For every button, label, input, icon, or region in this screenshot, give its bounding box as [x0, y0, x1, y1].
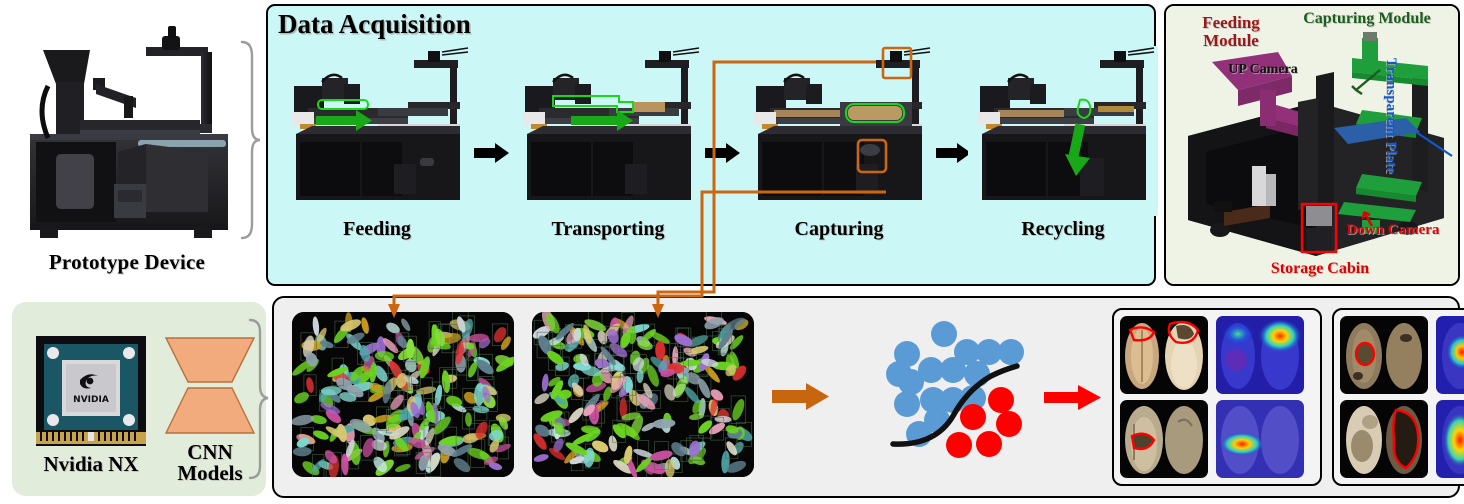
stage-transporting: Transporting [513, 46, 703, 246]
data-acquisition-title: Data Acquisition [278, 9, 471, 40]
nvidia-nx-chip-photo: NVIDIA [36, 336, 146, 446]
svg-text:NVIDIA: NVIDIA [73, 395, 109, 405]
orange-arrow-icon [772, 380, 830, 417]
brace-top-left [238, 40, 262, 245]
cam-right-row2-rgb [1340, 400, 1428, 478]
cnn-models-label-line1: CNN [160, 442, 260, 463]
cad-label-up-camera: UP Camera [1204, 62, 1322, 78]
stage-transporting-photo [513, 46, 703, 216]
stage-capturing-label: Capturing [736, 218, 942, 241]
prototype-device-photo [18, 12, 236, 250]
prototype-device-block: Prototype Device [18, 12, 236, 290]
cam-left-row1-rgb [1120, 316, 1208, 394]
brace-bottom-left [246, 318, 270, 485]
stage-feeding-label: Feeding [274, 218, 480, 241]
cad-module-panel: Feeding Module Capturing Module UP Camer… [1164, 4, 1460, 286]
cam-group-right [1332, 308, 1464, 486]
figure-root: Prototype Device Data Acquisition [0, 0, 1464, 504]
cam-left-row2-heatmap [1216, 400, 1304, 478]
cam-left-row2-rgb [1120, 400, 1208, 478]
stage-capturing: Capturing [744, 46, 934, 246]
stage-recycling-label: Recycling [960, 218, 1166, 241]
cad-label-feeding-module: Feeding Module [1176, 14, 1286, 50]
red-arrow-icon [1044, 382, 1102, 417]
stage-recycling-photo [968, 46, 1158, 216]
cam-right-row1-rgb [1340, 316, 1428, 394]
cnn-models-label: CNN Models [160, 442, 260, 485]
cam-left-row1-heatmap [1216, 316, 1304, 394]
cad-label-capturing-module: Capturing Module [1278, 10, 1456, 28]
stage-recycling: Recycling [968, 46, 1158, 246]
step-arrow-2 [705, 142, 741, 164]
cnn-model-shape [162, 334, 258, 443]
cnn-models-label-line2: Models [160, 463, 260, 484]
data-acquisition-panel: Data Acquisition [266, 4, 1156, 286]
nvidia-nx-label: Nvidia NX [18, 452, 164, 477]
segmented-grains-down-view [532, 312, 754, 477]
cad-label-storage-cabin: Storage Cabin [1240, 260, 1400, 278]
segmented-grains-up-view [292, 312, 514, 477]
cad-label-down-camera: Down Camera [1338, 222, 1448, 239]
step-arrow-3 [936, 142, 972, 164]
stage-capturing-photo [744, 46, 934, 216]
stage-feeding-photo [282, 46, 472, 216]
cam-right-row1-heatmap [1436, 316, 1464, 394]
step-arrow-1 [474, 142, 510, 164]
stage-transporting-label: Transporting [505, 218, 711, 241]
cam-right-row2-heatmap [1436, 400, 1464, 478]
cam-group-left [1112, 308, 1322, 486]
recognition-pipeline-panel [272, 296, 1460, 498]
compute-panel: NVIDIA Nvidia NX [12, 302, 266, 496]
cad-label-transparent-plate: Transparent Plate [1382, 58, 1399, 208]
stage-feeding: Feeding [282, 46, 472, 246]
prototype-device-caption: Prototype Device [18, 250, 236, 275]
